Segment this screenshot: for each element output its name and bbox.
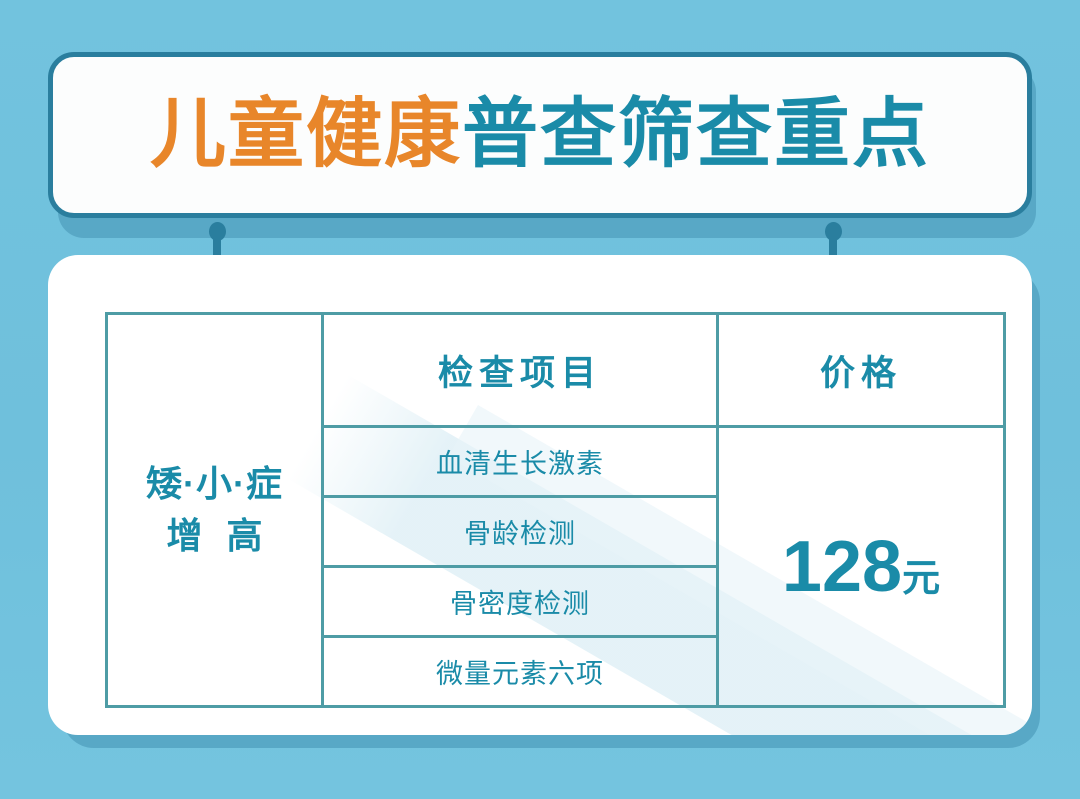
poster-canvas: 儿童健康普查筛查重点 矮·小·症 增高 [0,0,1080,799]
category-line-1: 矮·小·症 [108,458,321,510]
category-line-2: 增高 [108,510,321,562]
price-table: 矮·小·症 增高 检查项目 价格 血清生长激素 128元 骨龄检测 骨密度检测 [105,312,1006,708]
item-cell-1: 血清生长激素 [323,427,718,497]
page-title-teal: 普查筛查重点 [462,97,930,173]
item-cell-4: 微量元素六项 [323,637,718,707]
table-row: 矮·小·症 增高 检查项目 价格 [107,314,1005,427]
item-cell-3: 骨密度检测 [323,567,718,637]
category-cell: 矮·小·症 增高 [107,314,323,707]
page-title: 儿童健康普查筛查重点 [150,97,930,173]
header-items: 检查项目 [323,314,718,427]
page-title-orange: 儿童健康 [150,97,462,173]
price-unit: 元 [902,558,940,600]
price-amount: 128 [782,527,902,607]
price-cell: 128元 [718,427,1005,707]
title-card: 儿童健康普查筛查重点 [48,52,1032,218]
header-price: 价格 [718,314,1005,427]
body-card: 矮·小·症 增高 检查项目 价格 血清生长激素 128元 骨龄检测 骨密度检测 [48,255,1032,735]
item-cell-2: 骨龄检测 [323,497,718,567]
